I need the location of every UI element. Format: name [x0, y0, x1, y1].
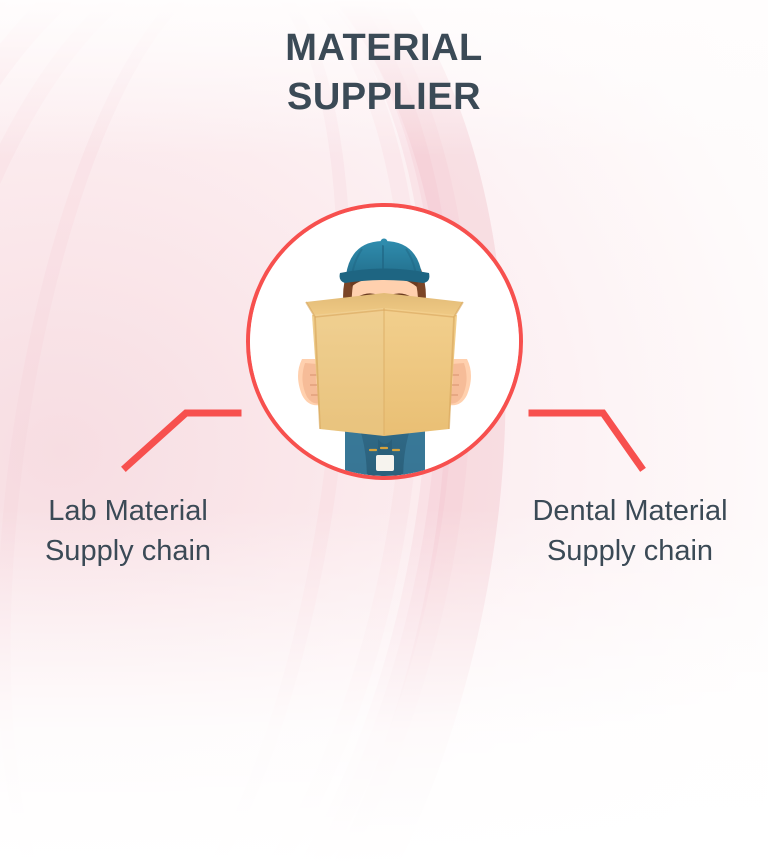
infographic-canvas: MATERIAL SUPPLIER [0, 0, 768, 868]
cardboard-box [306, 293, 463, 436]
branch-label-dental-material-line-2: Supply chain [510, 531, 750, 571]
branch-label-lab-material-line-2: Supply chain [14, 531, 242, 571]
page-title: MATERIAL SUPPLIER [0, 24, 768, 121]
branch-label-lab-material[interactable]: Lab Material Supply chain [14, 491, 242, 571]
branch-label-lab-material-line-1: Lab Material [14, 491, 242, 531]
center-node-circle[interactable] [246, 203, 523, 480]
delivery-man-carrying-box-icon [250, 207, 519, 476]
branch-label-dental-material-line-1: Dental Material [510, 491, 750, 531]
page-title-line-2: SUPPLIER [0, 73, 768, 122]
page-title-line-1: MATERIAL [0, 24, 768, 73]
branch-label-dental-material[interactable]: Dental Material Supply chain [510, 491, 750, 571]
